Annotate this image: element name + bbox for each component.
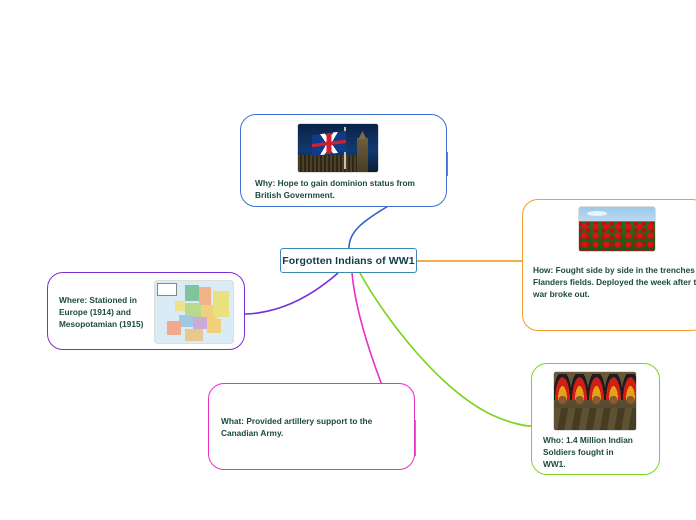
branch-node-what[interactable]: What: Provided artillery support to the … bbox=[208, 383, 415, 470]
branch-node-where[interactable]: Where: Stationed in Europe (1914) and Me… bbox=[47, 272, 245, 350]
mindmap-canvas: Forgotten Indians of WW1 Why: Hope to ga… bbox=[0, 0, 696, 520]
branch-node-who[interactable]: Who: 1.4 Million Indian Soldiers fought … bbox=[531, 363, 660, 475]
branch-text-who: Who: 1.4 Million Indian Soldiers fought … bbox=[543, 434, 655, 470]
union-jack-big-ben-photo bbox=[298, 124, 378, 172]
poppy-field-photo bbox=[579, 207, 655, 251]
branch-text-how: How: Fought side by side in the trenches… bbox=[533, 264, 696, 300]
branch-text-why: Why: Hope to gain dominion status from B… bbox=[255, 177, 440, 201]
root-node-label: Forgotten Indians of WW1 bbox=[282, 255, 414, 267]
branch-text-what: What: Provided artillery support to the … bbox=[221, 415, 406, 439]
map-legend bbox=[157, 283, 177, 296]
branch-node-why[interactable]: Why: Hope to gain dominion status from B… bbox=[240, 114, 447, 207]
root-node[interactable]: Forgotten Indians of WW1 bbox=[280, 248, 417, 273]
europe-map-photo bbox=[155, 281, 233, 343]
connector-where bbox=[245, 273, 338, 314]
branch-text-where: Where: Stationed in Europe (1914) and Me… bbox=[59, 294, 154, 330]
indian-soldiers-parade-photo bbox=[554, 372, 636, 430]
branch-node-how[interactable]: How: Fought side by side in the trenches… bbox=[522, 199, 696, 331]
